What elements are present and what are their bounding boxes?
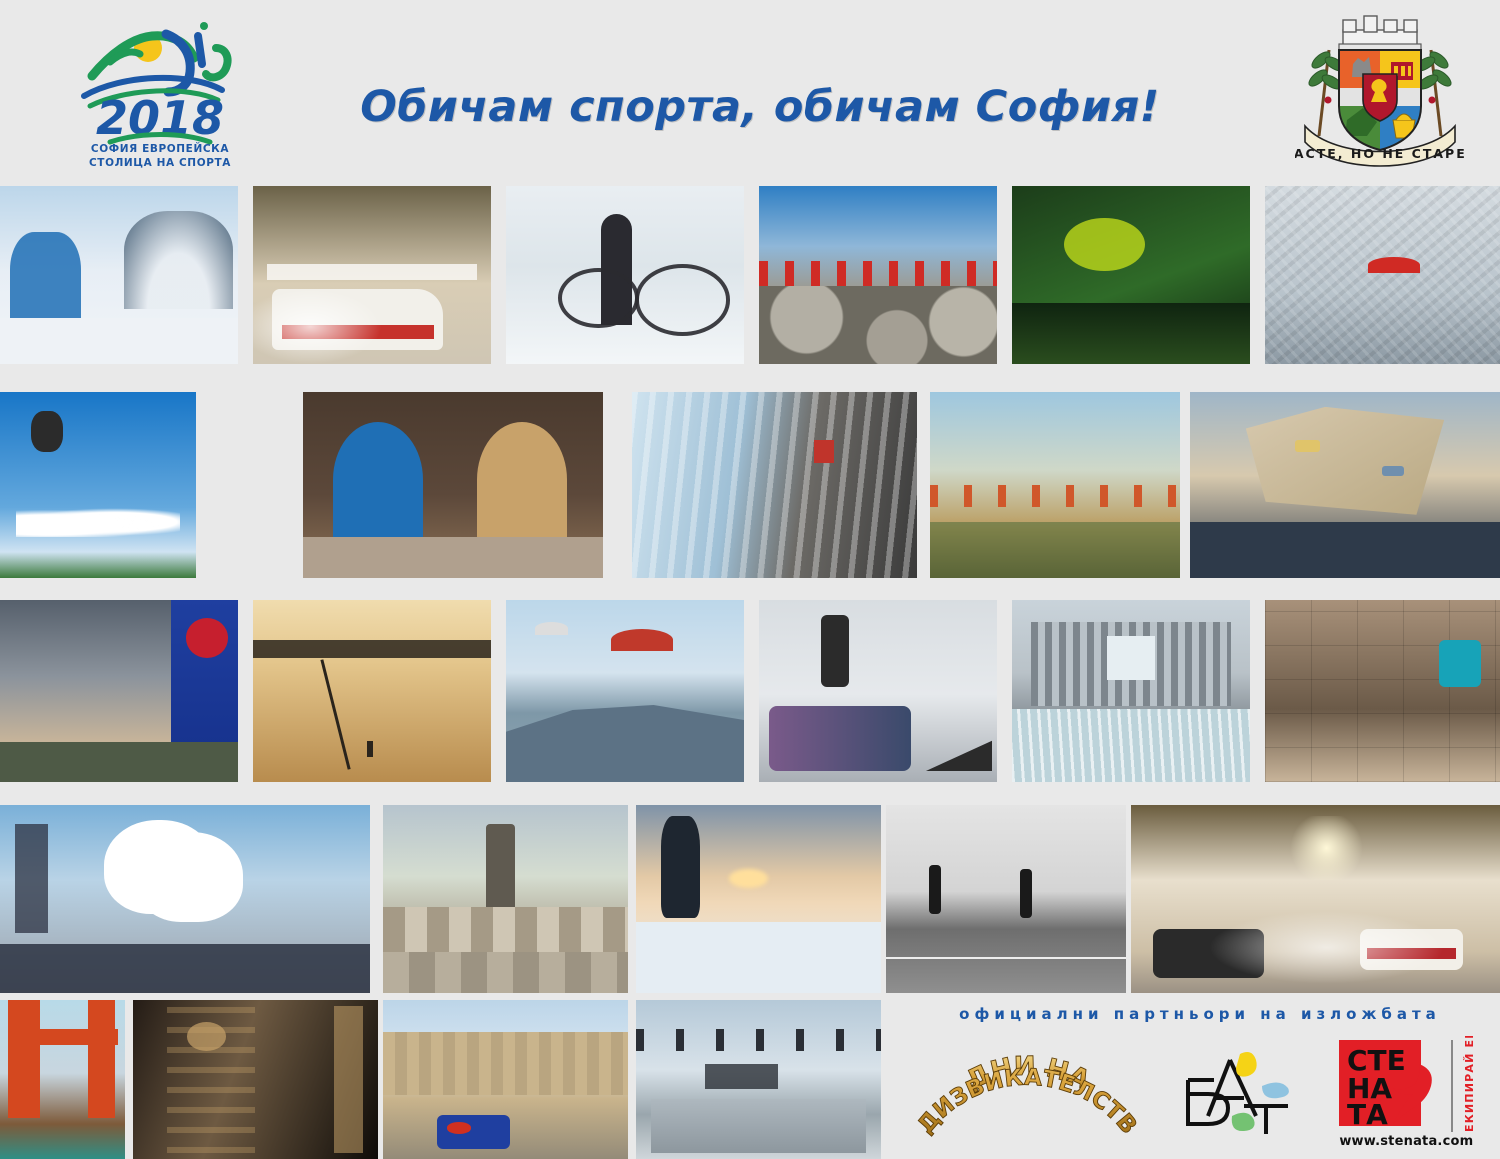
photo-wakeboard-ndk-fountain[interactable]	[1012, 600, 1250, 782]
photo-snowboarder-sunset-snow[interactable]	[636, 805, 881, 993]
stenata-row3: ТА	[1347, 1098, 1388, 1131]
photo-ice-climbing-waterfall[interactable]	[632, 392, 917, 578]
motto-text: РАСТЕ, НО НЕ СТАРЕЕ	[1295, 146, 1465, 161]
photo-longboarder-under-arch[interactable]	[303, 392, 603, 578]
inescutcheon-icon	[1363, 74, 1397, 121]
photo-skater-shoes-close-up[interactable]	[0, 805, 370, 993]
photo-roller-skiers-foggy-road[interactable]	[886, 805, 1126, 993]
photo-skiers-alexander-nevsky-cathedral[interactable]	[0, 186, 238, 364]
poster-header: 2018 СОФИЯ ЕВРОПЕЙСКА СТОЛИЦА НА СПОРТА …	[0, 0, 1500, 185]
logo-tagline-line2: СТОЛИЦА НА СПОРТА	[70, 156, 250, 170]
logo-tagline-line1: СОФИЯ ЕВРОПЕЙСКА	[70, 142, 250, 156]
photo-paraglider-over-city[interactable]	[1265, 186, 1500, 364]
photo-indoor-bike-drop[interactable]	[133, 1000, 378, 1159]
photo-two-drift-cars-smoke[interactable]	[1131, 805, 1500, 993]
mural-crown-icon	[1339, 16, 1421, 52]
photo-row-4	[0, 805, 1500, 993]
photo-backdrop	[0, 392, 196, 578]
photo-bmx-ramp-over-city[interactable]	[0, 600, 238, 782]
stenata-url[interactable]: www.stenata.com	[1339, 1134, 1473, 1149]
photo-bmx-sequence-on-ramp[interactable]	[636, 1000, 881, 1159]
photo-row-2	[0, 392, 1500, 578]
page-title: Обичам спорта, обичам София!	[280, 82, 1240, 132]
partner-logo-dni-na-predizvikatelstvata[interactable]: ДНИ НА ПРЕДИЗВИКАТЕЛСТВАТА	[917, 1041, 1137, 1146]
partner-logo-stenata[interactable]: СТЕ НА ТА ЕКИПИРАЙ ЕМОЦИЯТА www.stenata.…	[1333, 1036, 1483, 1151]
partners-title: официални партньори на изложбата	[900, 1005, 1500, 1023]
photo-backflip-blue-sky[interactable]	[0, 392, 196, 578]
photo-paragliders-over-vitosha[interactable]	[506, 600, 744, 782]
photo-row-1	[0, 186, 1500, 364]
photo-wakeboard-cable-sunset[interactable]	[253, 600, 491, 782]
photo-rally-car-before-palace[interactable]	[383, 1000, 628, 1159]
photo-drift-car-bmw-smoke[interactable]	[253, 186, 491, 364]
photo-bike-trial-on-stone-wall[interactable]	[1265, 600, 1500, 782]
stenata-slogan: ЕКИПИРАЙ ЕМОЦИЯТА	[1463, 1036, 1476, 1132]
photo-trail-runners-on-rocks[interactable]	[759, 186, 997, 364]
photo-mountain-biker-in-forest[interactable]	[1012, 186, 1250, 364]
sofia-coat-of-arms: РАСТЕ, НО НЕ СТАРЕЕ	[1295, 8, 1465, 176]
partners-section: официални партньори на изложбата	[900, 995, 1500, 1159]
photo-skateboarder-over-car[interactable]	[759, 600, 997, 782]
photo-backdrop	[886, 805, 1126, 993]
partner-logo-bat[interactable]	[1170, 1046, 1300, 1141]
sofia-2018-logo: 2018 СОФИЯ ЕВРОПЕЙСКА СТОЛИЦА НА СПОРТА	[70, 14, 250, 174]
photo-bungee-crane-platform[interactable]	[0, 1000, 125, 1159]
photo-skate-park-concrete[interactable]	[383, 805, 628, 993]
poster-canvas: 2018 СОФИЯ ЕВРОПЕЙСКА СТОЛИЦА НА СПОРТА …	[0, 0, 1500, 1159]
partner-logo-row: ДНИ НА ПРЕДИЗВИКАТЕЛСТВАТА	[900, 1033, 1500, 1153]
photo-woman-with-bicycle-in-snow[interactable]	[506, 186, 744, 364]
photo-indoor-climbing-wall[interactable]	[1190, 392, 1500, 578]
photo-row-3	[0, 600, 1500, 782]
photo-cyclists-on-ridge[interactable]	[930, 392, 1180, 578]
